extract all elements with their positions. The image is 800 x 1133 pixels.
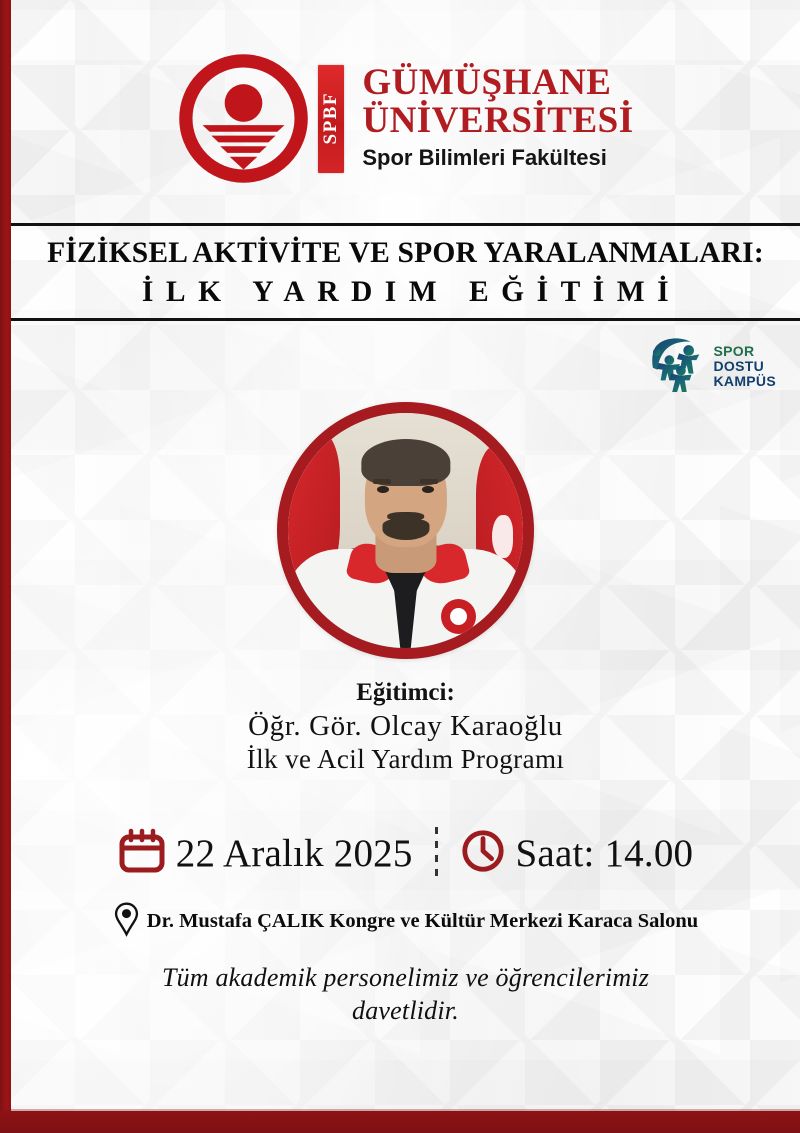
gumushane-university-emblem-icon (177, 52, 310, 185)
sport-friendly-campus-text: SPOR DOSTU KAMPÜS (714, 344, 776, 388)
event-time: Saat: 14.00 (460, 828, 694, 879)
invitation-line2: davetlidir. (11, 995, 800, 1028)
event-datetime-row: 22 Aralık 2025 Saat: 14.00 (11, 827, 800, 879)
faculty-name: Spor Bilimleri Fakültesi (362, 143, 633, 173)
datetime-divider (435, 827, 438, 879)
speaker-photo-wrap (11, 402, 800, 659)
university-wordmark: GÜMÜŞHANE ÜNİVERSİTESİ Spor Bilimleri Fa… (362, 64, 633, 172)
invitation-line1: Tüm akademik personelimiz ve öğrencileri… (11, 962, 800, 995)
poster-title: FİZİKSEL AKTİVİTE VE SPOR YARALANMALARI:… (11, 226, 800, 318)
speaker-name: Öğr. Gör. Olcay Karaoğlu (11, 710, 800, 743)
speaker-info: Eğitimci: Öğr. Gör. Olcay Karaoğlu İlk v… (11, 679, 800, 775)
title-line2: İLK YARDIM EĞİTİMİ (11, 276, 800, 309)
poster-header: SPBF GÜMÜŞHANE ÜNİVERSİTESİ Spor Bilimle… (11, 0, 800, 185)
title-line1: FİZİKSEL AKTİVİTE VE SPOR YARALANMALARI: (11, 237, 800, 270)
sdk-line1: SPOR (714, 344, 776, 359)
speaker-label: Eğitimci: (11, 679, 800, 707)
calendar-icon (118, 828, 166, 879)
faculty-abbreviation-label: SPBF (320, 92, 342, 144)
sdk-line2: DOSTU (714, 359, 776, 374)
event-location-row: Dr. Mustafa ÇALIK Kongre ve Kültür Merke… (11, 901, 800, 942)
invitation-text: Tüm akademik personelimiz ve öğrencileri… (11, 962, 800, 1027)
bottom-red-border (0, 1111, 800, 1133)
left-red-border (0, 0, 11, 1133)
clock-icon (460, 828, 506, 879)
sdk-line3: KAMPÜS (714, 374, 776, 389)
speaker-portrait (277, 402, 534, 659)
spor-dostu-kampus-figures-icon (648, 335, 710, 398)
event-date: 22 Aralık 2025 (118, 828, 413, 879)
university-name-line1: GÜMÜŞHANE (362, 64, 633, 102)
poster-content: SPBF GÜMÜŞHANE ÜNİVERSİTESİ Spor Bilimle… (11, 0, 800, 1111)
event-date-text: 22 Aralık 2025 (176, 831, 413, 876)
speaker-program: İlk ve Acil Yardım Programı (11, 744, 800, 775)
sport-friendly-campus-badge: SPOR DOSTU KAMPÜS (11, 321, 800, 398)
faculty-abbreviation-tab: SPBF (318, 65, 344, 173)
event-time-text: Saat: 14.00 (516, 831, 694, 876)
university-name-line2: ÜNİVERSİTESİ (362, 102, 633, 140)
event-poster: SPBF GÜMÜŞHANE ÜNİVERSİTESİ Spor Bilimle… (0, 0, 800, 1133)
event-location-text: Dr. Mustafa ÇALIK Kongre ve Kültür Merke… (147, 910, 698, 933)
location-pin-icon (113, 901, 140, 942)
